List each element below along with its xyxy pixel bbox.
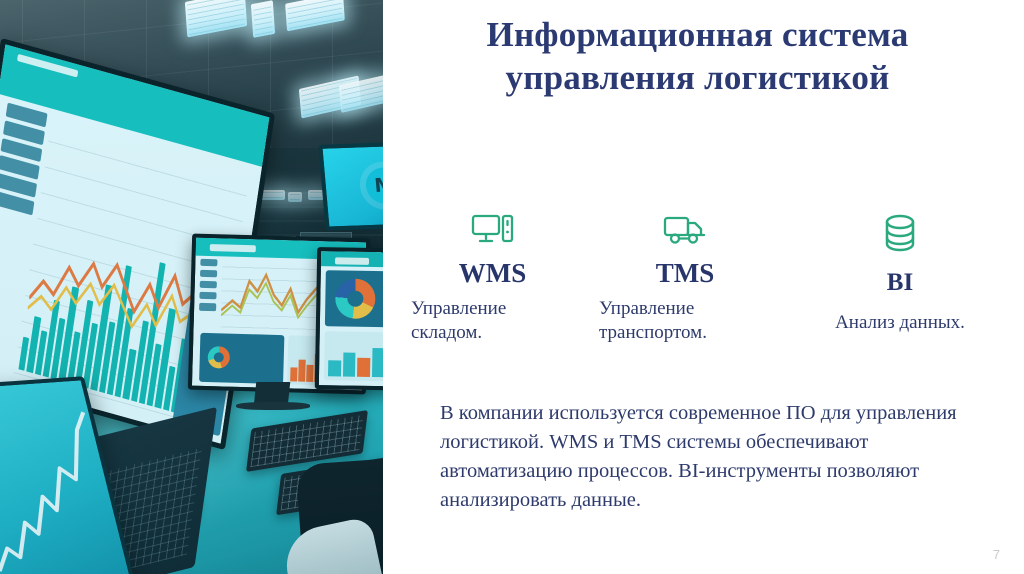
donut-widget (199, 333, 284, 384)
logo-monitor: M (318, 141, 383, 230)
delivery-truck-icon (595, 208, 775, 252)
control-room-photo: M (0, 0, 383, 574)
feature-title: BI (795, 270, 1005, 295)
slide: M (0, 0, 1024, 574)
dashboard-header-bar (321, 251, 383, 268)
feature-title: WMS (405, 260, 580, 287)
office-chair (296, 455, 383, 574)
page-number: 7 (993, 547, 1000, 562)
feature-text: Анализ данных. (795, 311, 1005, 335)
donut-widget (325, 270, 383, 328)
ceiling-lamp (288, 192, 302, 202)
bar-widget (324, 332, 383, 382)
dashboard-screen (319, 251, 383, 387)
database-icon (795, 208, 1005, 260)
feature-text: Управление складом. (405, 297, 580, 345)
ceiling-lamp (251, 0, 275, 38)
page-title: Информационная система управления логист… (397, 14, 998, 99)
dashboard-sidebar (199, 259, 218, 325)
feature-card-bi[interactable]: BI Анализ данных. (795, 208, 1005, 335)
body-paragraph: В компании используется современное ПО д… (440, 399, 980, 515)
monitor-base (236, 402, 310, 410)
feature-title: TMS (595, 260, 775, 287)
logo-letter: M (374, 174, 383, 197)
feature-cards: WMS Управление складом. TMS Управлен (383, 208, 1024, 368)
feature-card-wms[interactable]: WMS Управление складом. (405, 208, 580, 345)
feature-card-tms[interactable]: TMS Управление транспортом. (595, 208, 775, 345)
feature-text: Управление транспортом. (595, 297, 775, 345)
desktop-computer-icon (405, 208, 580, 252)
content-panel: Информационная система управления логист… (383, 0, 1024, 574)
tertiary-dashboard-monitor (315, 247, 383, 391)
